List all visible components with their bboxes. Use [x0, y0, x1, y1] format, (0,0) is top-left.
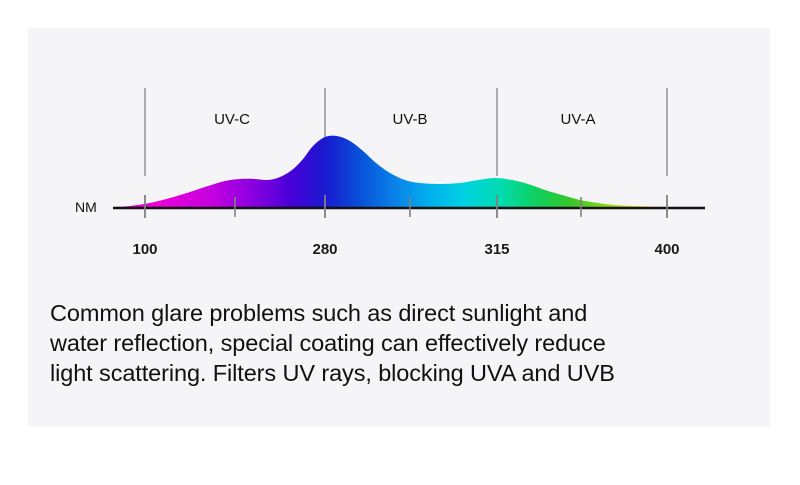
band-label-uv-a: UV-A: [560, 111, 595, 128]
tick-label-100: 100: [132, 241, 157, 258]
page-root: UV-CUV-BUV-A 100280315400 NM Common glar…: [0, 0, 800, 485]
band-label-uv-b: UV-B: [392, 111, 427, 128]
nm-axis-label: NM: [75, 199, 97, 215]
caption-line-1: Common glare problems such as direct sun…: [50, 298, 760, 328]
gridlines-group: [145, 88, 667, 176]
band-labels-group: UV-CUV-BUV-A: [214, 111, 595, 128]
uv-spectrum-svg: UV-CUV-BUV-A 100280315400 NM: [28, 28, 770, 268]
caption-text: Common glare problems such as direct sun…: [50, 298, 760, 388]
caption-line-2: water reflection, special coating can ef…: [50, 328, 760, 358]
tick-label-400: 400: [654, 241, 679, 258]
tick-label-280: 280: [312, 241, 337, 258]
spectrum-curve-group: [113, 136, 700, 208]
caption-line-3: light scattering. Filters UV rays, block…: [50, 358, 760, 388]
tick-label-315: 315: [484, 241, 509, 258]
uv-spectrum-chart: UV-CUV-BUV-A 100280315400 NM: [28, 28, 770, 268]
band-label-uv-c: UV-C: [214, 111, 250, 128]
uv-spectrum-panel: UV-CUV-BUV-A 100280315400 NM Common glar…: [28, 28, 770, 427]
spectrum-area-fill: [113, 136, 700, 208]
tick-labels-group: 100280315400: [132, 241, 679, 258]
